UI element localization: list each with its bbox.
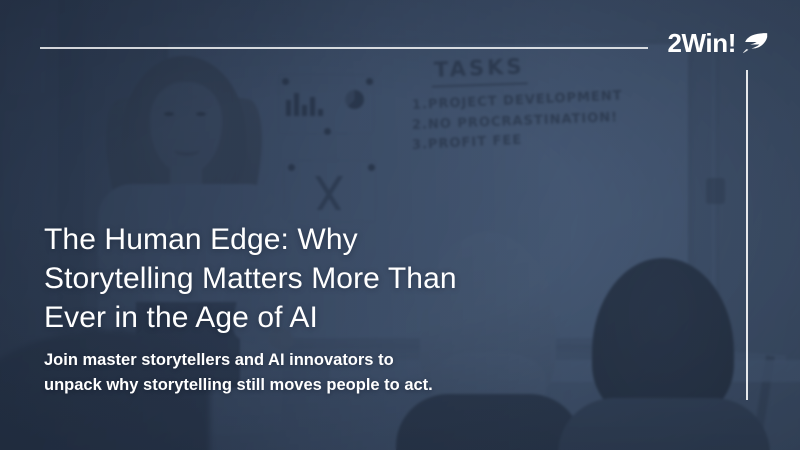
top-horizontal-rule (40, 47, 648, 49)
wing-icon (742, 32, 768, 54)
promo-banner: TASKS 1.PROJECT DEVELOPMENT 2.NO PROCRAS… (0, 0, 800, 450)
right-vertical-rule (746, 70, 748, 400)
page-subtitle-line: Join master storytellers and AI innovato… (44, 348, 544, 373)
page-title: The Human Edge: Why Storytelling Matters… (44, 220, 514, 337)
page-title-line: The Human Edge: Why (44, 223, 358, 256)
brand-logo-text: 2Win! (667, 30, 736, 56)
brand-logo[interactable]: 2Win! (667, 30, 768, 56)
banner-content: 2Win! The Human Edge: Why Storytelling M… (0, 0, 800, 450)
page-title-line: Storytelling Matters More (44, 262, 380, 295)
page-subtitle: Join master storytellers and AI innovato… (44, 348, 544, 398)
page-subtitle-line: unpack why storytelling still moves peop… (44, 373, 544, 398)
